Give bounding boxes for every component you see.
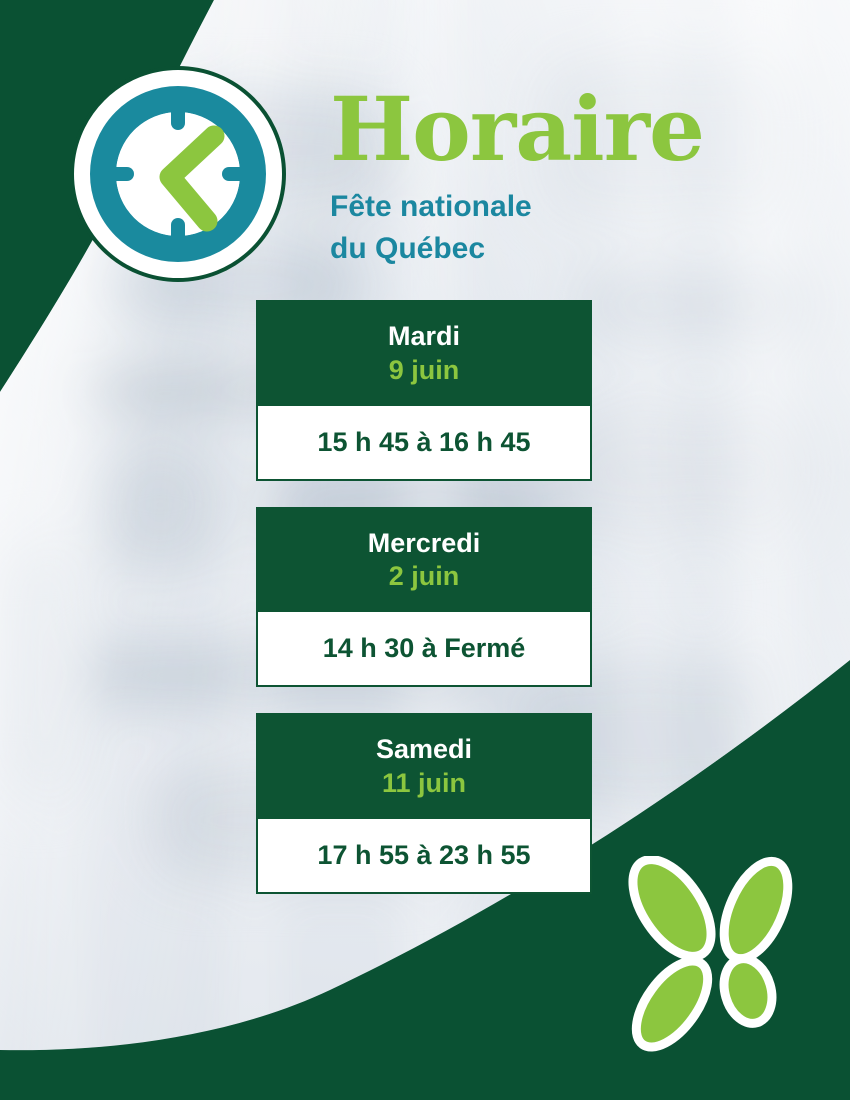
subtitle-line-2: du Québec [330,228,800,270]
subtitle-line-1: Fête nationale [330,186,800,228]
schedule-card: Mardi 9 juin 15 h 45 à 16 h 45 [256,300,592,481]
clock-icon [70,66,286,282]
butterfly-petal-bottom-left [622,949,721,1056]
schedule-card-day: Mercredi [266,527,582,561]
schedule-card-date: 2 juin [266,560,582,594]
schedule-card-header: Samedi 11 juin [256,713,592,819]
schedule-card: Samedi 11 juin 17 h 55 à 23 h 55 [256,713,592,894]
page-subtitle: Fête nationale du Québec [330,186,800,270]
schedule-card-date: 9 juin [266,354,582,388]
schedule-card-date: 11 juin [266,767,582,801]
butterfly-petal-bottom-right [717,953,779,1029]
butterfly-petal-top-left [617,856,727,970]
schedule-list: Mardi 9 juin 15 h 45 à 16 h 45 Mercredi … [256,300,592,920]
schedule-card-hours: 14 h 30 à Fermé [256,612,592,687]
schedule-card-header: Mercredi 2 juin [256,507,592,613]
schedule-card: Mercredi 2 juin 14 h 30 à Fermé [256,507,592,688]
butterfly-petal-top-right [711,856,801,968]
butterfly-logo [616,856,812,1056]
page-title: Horaire [330,88,800,172]
schedule-card-hours: 17 h 55 à 23 h 55 [256,819,592,894]
schedule-poster: Horaire Fête nationale du Québec Mardi 9… [0,0,850,1100]
schedule-card-day: Samedi [266,733,582,767]
schedule-card-hours: 15 h 45 à 16 h 45 [256,406,592,481]
schedule-card-day: Mardi [266,320,582,354]
poster-heading: Horaire Fête nationale du Québec [330,88,800,270]
schedule-card-header: Mardi 9 juin [256,300,592,406]
